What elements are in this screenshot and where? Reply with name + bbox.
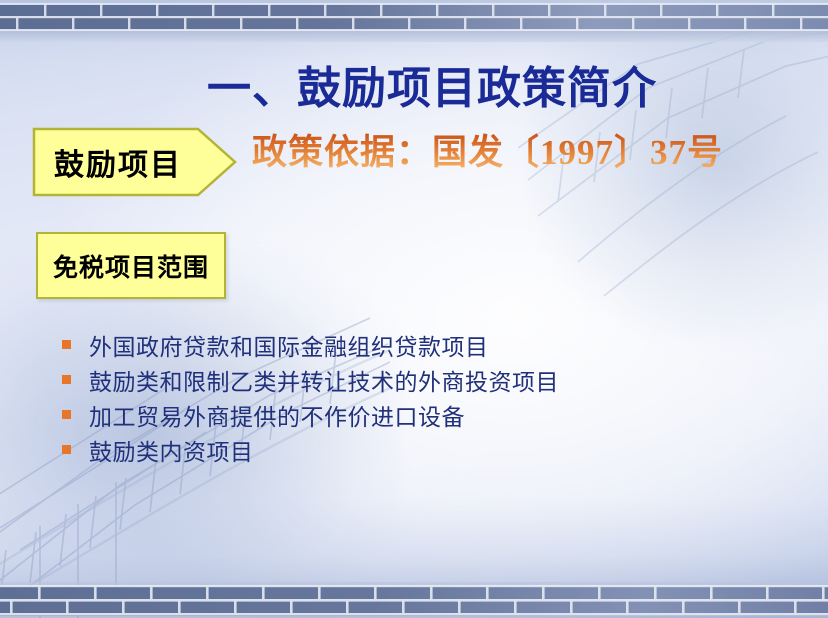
highlight-tag-label: 鼓励项目 [32,127,204,197]
scope-box-label: 免税项目范围 [53,248,209,284]
list-item-label: 鼓励类内资项目 [89,433,254,467]
bottom-brick-band [0,582,828,618]
top-brick-band [0,0,828,42]
slide-title: 一、鼓励项目政策简介 [0,52,828,116]
square-bullet-icon [62,445,71,454]
policy-basis-text: 政策依据：国发〔1997〕37号 [252,124,723,175]
list-item-label: 加工贸易外商提供的不作价进口设备 [89,398,465,432]
list-item: 加工贸易外商提供的不作价进口设备 [62,398,559,431]
list-item: 鼓励类和限制乙类并转让技术的外商投资项目 [62,363,559,396]
list-item-label: 外国政府贷款和国际金融组织贷款项目 [89,328,489,362]
list-item: 外国政府贷款和国际金融组织贷款项目 [62,328,559,361]
presentation-slide: 一、鼓励项目政策简介 鼓励项目 政策依据：国发〔1997〕37号 免税项目范围 … [0,0,828,618]
background-haze-bottom [0,498,828,618]
highlight-tag-pentagon: 鼓励项目 [32,127,237,197]
bullet-list: 外国政府贷款和国际金融组织贷款项目 鼓励类和限制乙类并转让技术的外商投资项目 加… [62,328,559,468]
scope-box: 免税项目范围 [36,232,226,299]
square-bullet-icon [62,410,71,419]
square-bullet-icon [62,340,71,349]
list-item: 鼓励类内资项目 [62,433,559,466]
square-bullet-icon [62,375,71,384]
list-item-label: 鼓励类和限制乙类并转让技术的外商投资项目 [89,363,559,397]
